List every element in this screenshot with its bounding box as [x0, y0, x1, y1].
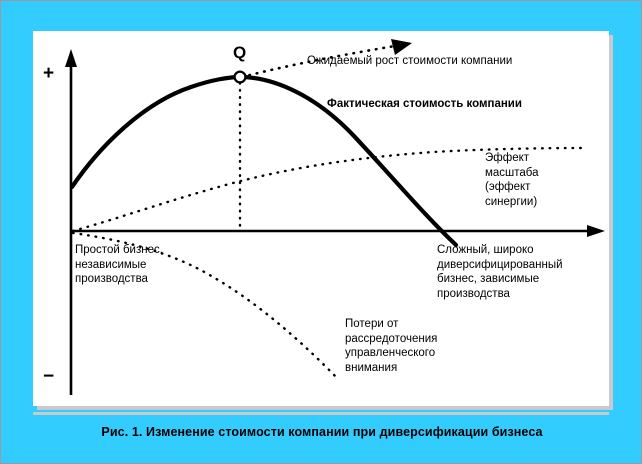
chart-canvas — [33, 31, 609, 406]
y-axis — [65, 49, 77, 395]
caption-divider — [33, 412, 609, 415]
label-expected-growth: Ожидаемый рост стоимости компании — [307, 54, 512, 69]
y-axis-plus-sign: + — [43, 64, 54, 83]
x-axis — [71, 225, 605, 237]
figure-root: + − Q Ожидаемый рост стоимости компании … — [0, 0, 642, 464]
label-complex-business: Сложный, широко диверсифицированный бизн… — [437, 243, 563, 301]
label-scale-effect: Эффект масштаба (эффект синергии) — [485, 151, 539, 209]
y-axis-minus-sign: − — [43, 367, 54, 386]
label-actual-value: Фактическая стоимость компании — [327, 97, 522, 112]
q-point-marker — [235, 72, 246, 83]
chart-panel: + − Q Ожидаемый рост стоимости компании … — [33, 31, 609, 406]
label-simple-business: Простой бизнес, независимые производства — [75, 243, 163, 287]
figure-caption: Рис. 1. Изменение стоимости компании при… — [1, 425, 642, 439]
peak-point-label: Q — [233, 44, 246, 61]
label-attention-losses: Потери от рассредоточения управленческог… — [345, 317, 437, 375]
